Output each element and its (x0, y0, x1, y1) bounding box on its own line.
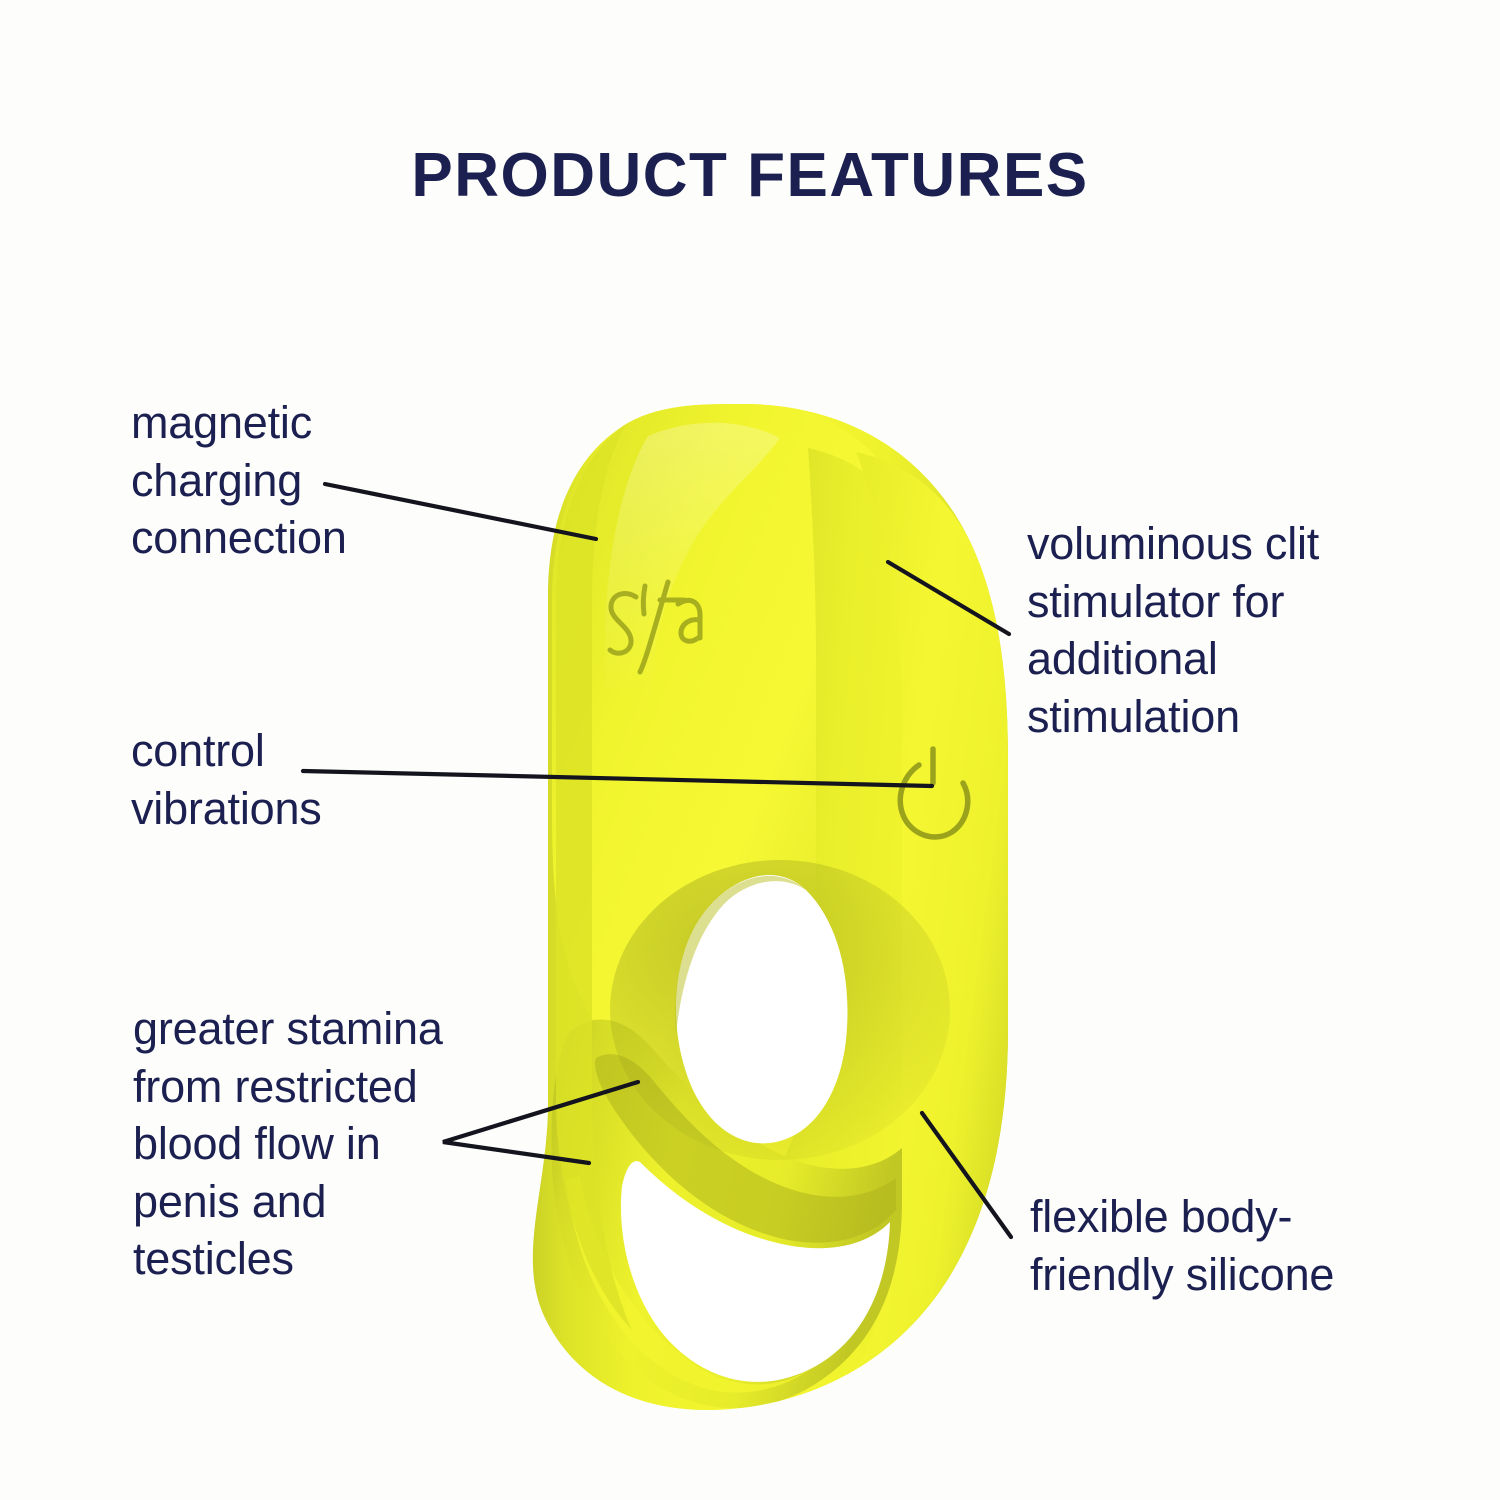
callout-line: testicles (133, 1230, 443, 1288)
callout-line: connection (131, 509, 347, 567)
callout-magnetic-charging: magnetic charging connection (131, 394, 347, 567)
callout-voluminous-clit-stimulator: voluminous clit stimulator for additiona… (1027, 515, 1319, 745)
callout-line: flexible body- (1030, 1188, 1334, 1246)
callout-control-vibrations: control vibrations (131, 722, 322, 837)
callout-line: control (131, 722, 322, 780)
product-features-infographic: PRODUCT FEATURES (0, 0, 1500, 1500)
callout-line: greater stamina (133, 1000, 443, 1058)
callout-line: from restricted (133, 1058, 443, 1116)
callout-line: charging (131, 452, 347, 510)
page-title: PRODUCT FEATURES (0, 140, 1500, 211)
callout-line: blood flow in (133, 1115, 443, 1173)
callout-line: voluminous clit (1027, 515, 1319, 573)
callout-line: vibrations (131, 780, 322, 838)
callout-line: magnetic (131, 394, 347, 452)
callout-line: additional (1027, 630, 1319, 688)
callout-flexible-silicone: flexible body- friendly silicone (1030, 1188, 1334, 1303)
callout-line: stimulation (1027, 688, 1319, 746)
callout-line: friendly silicone (1030, 1246, 1334, 1304)
callout-greater-stamina: greater stamina from restricted blood fl… (133, 1000, 443, 1288)
callout-line: stimulator for (1027, 573, 1319, 631)
callout-line: penis and (133, 1173, 443, 1231)
